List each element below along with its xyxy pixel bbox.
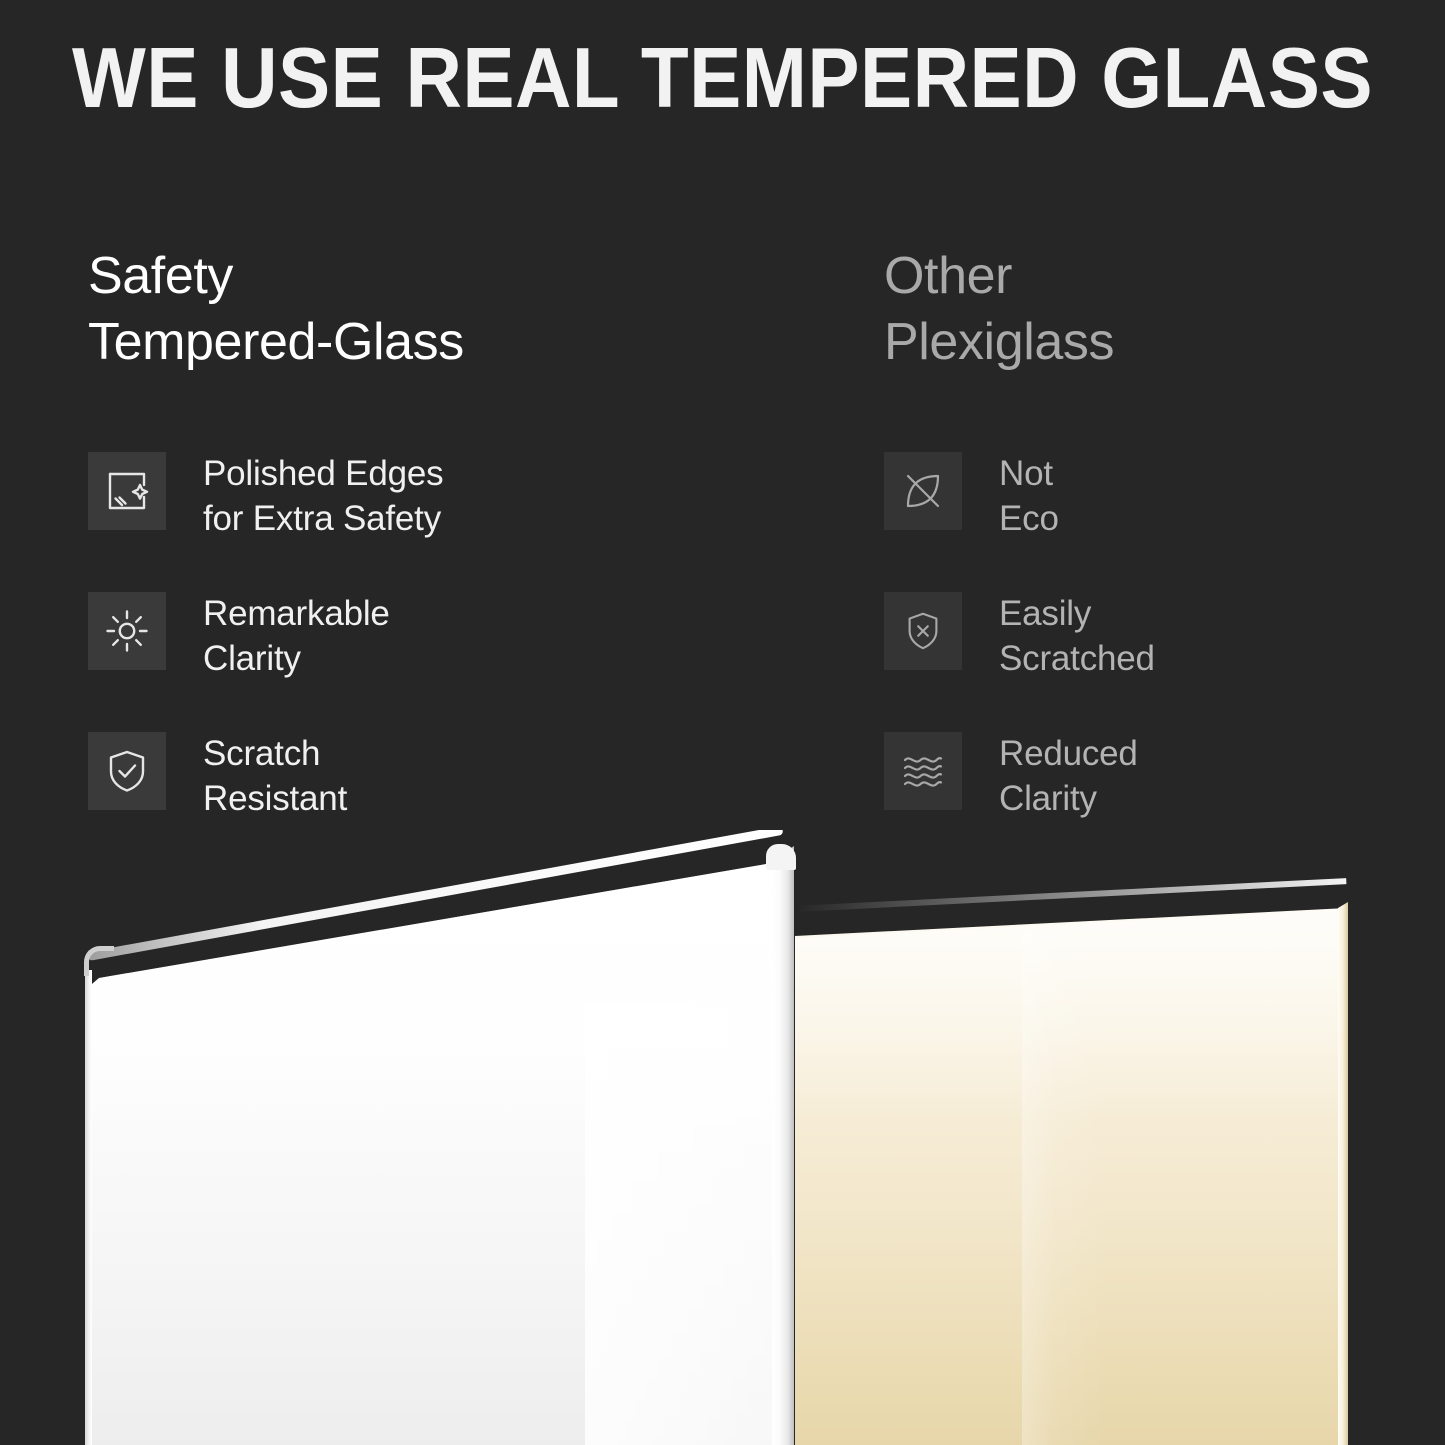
sun-clarity-icon: [88, 592, 166, 670]
tempered-glass-panel-right-edge: [772, 846, 794, 1445]
plexiglass-panel-reflection: [1022, 930, 1344, 1445]
page-title: WE USE REAL TEMPERED GLASS: [58, 36, 1387, 123]
feature-label: Not Eco: [999, 448, 1059, 541]
feature-row: Polished Edges for Extra Safety: [88, 448, 648, 588]
tempered-glass-panel-reflection: [585, 1002, 781, 1445]
feature-label: Easily Scratched: [999, 588, 1155, 681]
feature-label: Polished Edges for Extra Safety: [203, 448, 443, 541]
feature-label: Scratch Resistant: [203, 728, 347, 821]
column-heading-plexiglass: Other Plexiglass: [884, 243, 1114, 375]
tempered-glass-panel-top-right-corner: [766, 844, 796, 870]
feature-list-tempered-glass: Polished Edges for Extra Safety Remarkab…: [88, 448, 648, 868]
infographic-root: WE USE REAL TEMPERED GLASS Safety Temper…: [0, 0, 1445, 1445]
plexiglass-panel-right-edge: [1338, 902, 1348, 1445]
tempered-glass-panel-left-edge: [85, 970, 92, 1445]
feature-list-plexiglass: Not Eco Easily Scratched: [884, 448, 1444, 868]
leaf-crossed-out-icon: [884, 452, 962, 530]
shield-x-icon: [884, 592, 962, 670]
feature-row: Remarkable Clarity: [88, 588, 648, 728]
wavy-lines-icon: [884, 732, 962, 810]
plexiglass-panel-top-edge: [795, 878, 1347, 912]
polished-glass-sparkle-icon: [88, 452, 166, 530]
feature-label: Remarkable Clarity: [203, 588, 390, 681]
column-heading-tempered-glass: Safety Tempered-Glass: [88, 243, 464, 375]
tempered-glass-panel-top-left-corner: [84, 946, 114, 976]
glass-panels-photo: [0, 830, 1445, 1445]
feature-row: Not Eco: [884, 448, 1444, 588]
shield-check-icon: [88, 732, 166, 810]
feature-label: Reduced Clarity: [999, 728, 1138, 821]
feature-row: Easily Scratched: [884, 588, 1444, 728]
